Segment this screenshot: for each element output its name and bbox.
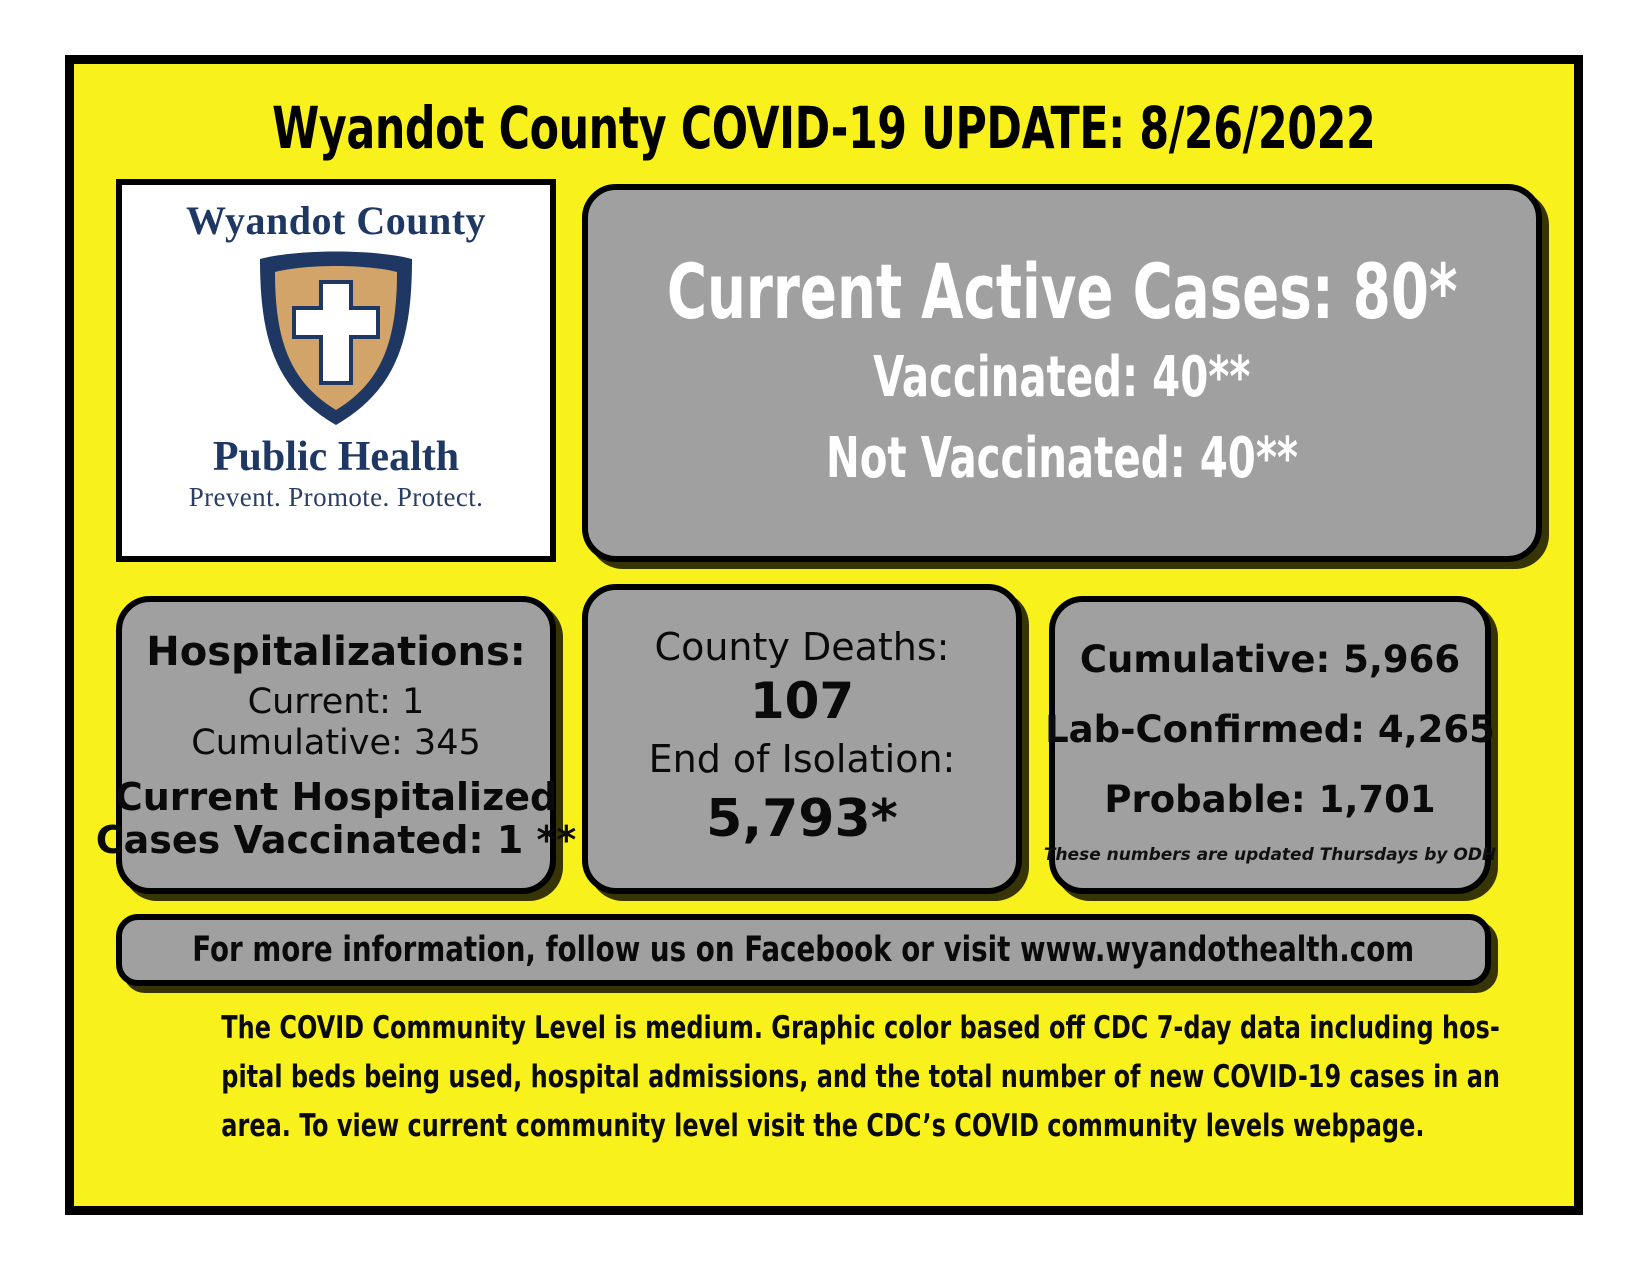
cumulative-update-note: These numbers are updated Thursdays by O… — [1044, 845, 1496, 865]
hospitalizations-heading: Hospitalizations: — [146, 629, 526, 676]
end-of-isolation-count: 5,793* — [706, 786, 898, 854]
cumulative-cases-card: Cumulative: 5,966 Lab-Confirmed: 4,265 P… — [1049, 596, 1491, 894]
contact-info-text[interactable]: For more information, follow us on Faceb… — [193, 930, 1415, 970]
lab-confirmed-count: Lab-Confirmed: 4,265 — [1045, 695, 1495, 765]
active-cases-not-vaccinated: Not Vaccinated: 40** — [826, 418, 1298, 499]
county-deaths-count: 107 — [750, 669, 854, 734]
covid-update-poster: Wyandot County COVID-19 UPDATE: 8/26/202… — [65, 55, 1583, 1215]
footer-line-2: pital beds being used, hospital admissio… — [221, 1053, 1416, 1102]
page-title: Wyandot County COVID-19 UPDATE: 8/26/202… — [74, 94, 1574, 162]
end-of-isolation-heading: End of Isolation: — [649, 734, 956, 785]
hospitalized-vaccinated-block: Current Hospitalized Cases Vaccinated: 1… — [96, 776, 577, 861]
shield-icon — [248, 245, 424, 434]
logo-line-county: Wyandot County — [186, 201, 486, 241]
logo-tagline: Prevent. Promote. Protect. — [189, 482, 484, 513]
page-title-text: Wyandot County COVID-19 UPDATE: 8/26/202… — [272, 94, 1375, 162]
probable-count: Probable: 1,701 — [1104, 765, 1435, 835]
hospitalizations-cumulative: Cumulative: 345 — [191, 723, 481, 764]
footer-line-3: area. To view current community level vi… — [221, 1102, 1416, 1151]
county-deaths-card: County Deaths: 107 End of Isolation: 5,7… — [582, 584, 1022, 894]
contact-info-bar[interactable]: For more information, follow us on Faceb… — [116, 914, 1491, 986]
agency-logo: Wyandot County Public Health Prevent. Pr… — [116, 179, 556, 562]
county-deaths-heading: County Deaths: — [655, 625, 950, 670]
active-cases-card: Current Active Cases: 80* Vaccinated: 40… — [582, 184, 1542, 562]
hospitalizations-current: Current: 1 — [248, 682, 425, 723]
active-cases-headline: Current Active Cases: 80* — [667, 247, 1458, 337]
logo-line-public-health: Public Health — [213, 436, 459, 478]
hospitalizations-card: Hospitalizations: Current: 1 Cumulative:… — [116, 596, 556, 894]
footer-line-1: The COVID Community Level is medium. Gra… — [221, 1004, 1416, 1053]
cumulative-total: Cumulative: 5,966 — [1080, 625, 1460, 695]
hospitalized-vaccinated-line1: Current Hospitalized — [96, 776, 577, 819]
active-cases-vaccinated: Vaccinated: 40** — [873, 337, 1250, 418]
hospitalized-vaccinated-line2: Cases Vaccinated: 1 ** — [96, 819, 577, 862]
community-level-footer: The COVID Community Level is medium. Gra… — [124, 1004, 1514, 1151]
